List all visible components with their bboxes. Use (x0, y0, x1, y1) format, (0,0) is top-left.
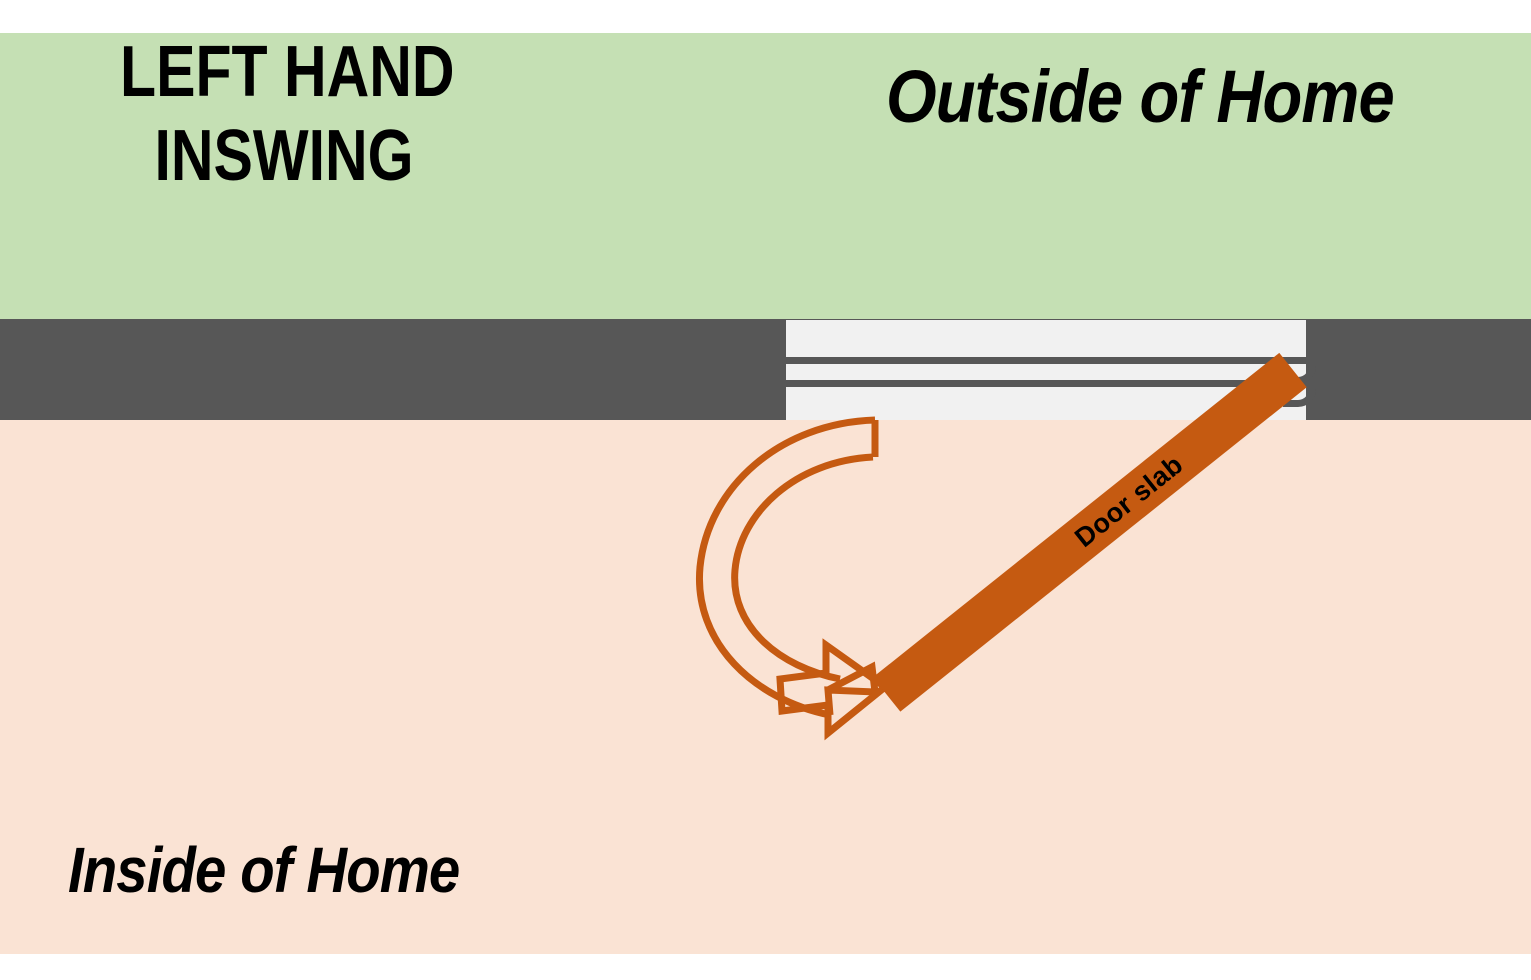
handing-title: LEFT HAND INSWING (120, 36, 628, 192)
handing-title-line1: LEFT HAND (120, 32, 455, 112)
door-frame-line-upper (786, 357, 1306, 364)
outside-of-home-label: Outside of Home (886, 60, 1394, 134)
door-swing-diagram: LEFT HAND INSWING Outside of Home Inside… (0, 0, 1531, 980)
door-frame-line-lower (786, 380, 1306, 387)
handing-title-line2: INSWING (120, 120, 628, 192)
inside-of-home-label: Inside of Home (68, 838, 459, 902)
